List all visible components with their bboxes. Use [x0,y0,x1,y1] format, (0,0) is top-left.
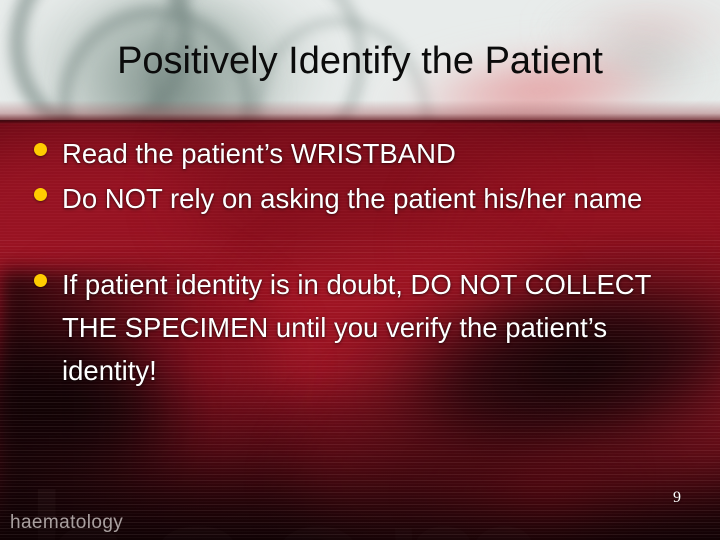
bullet-disc-icon [34,188,47,201]
footer-brand-label: haematology [10,512,123,534]
slide-page-number: 9 [673,489,681,507]
list-item-label: If patient identity is in doubt, DO NOT … [62,263,690,392]
presentation-slide: Positively Identify the Patient haem Rea… [0,0,720,540]
list-item: Do NOT rely on asking the patient his/he… [34,177,690,220]
page-title: Positively Identify the Patient [0,38,720,84]
bullet-disc-icon [34,143,47,156]
list-item-label: Do NOT rely on asking the patient his/he… [62,177,690,220]
slide-content-band: haem Read the patient’s WRISTBAND Do NOT… [0,120,720,540]
header-bottom-fade [0,100,720,122]
list-item: If patient identity is in doubt, DO NOT … [34,263,690,392]
list-item-label: Read the patient’s WRISTBAND [62,132,690,175]
bullet-disc-icon [34,274,47,287]
list-item: Read the patient’s WRISTBAND [34,132,690,175]
